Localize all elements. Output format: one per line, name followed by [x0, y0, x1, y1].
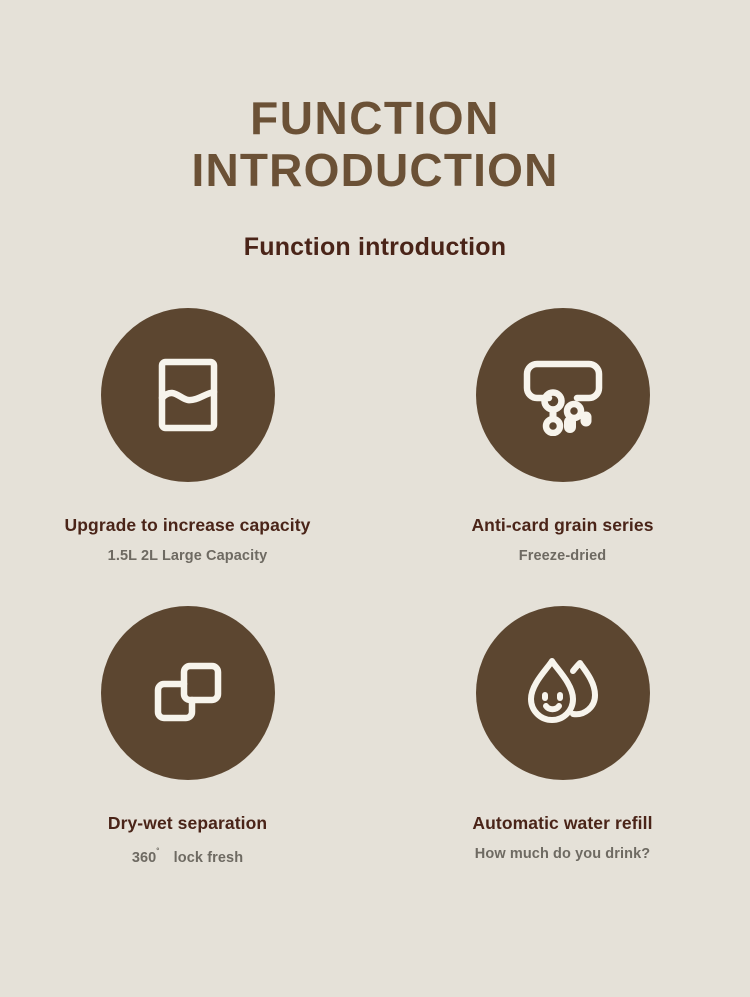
icon-badge	[101, 606, 275, 780]
icon-badge	[101, 308, 275, 482]
feature-title: Automatic water refill	[472, 812, 652, 834]
feature-card-anti-card-grain: Anti-card grain series Freeze-dried	[375, 308, 750, 606]
feature-subtitle: Freeze-dried	[519, 547, 606, 565]
feature-title: Anti-card grain series	[471, 514, 653, 536]
feature-subtitle: 360˚lock fresh	[132, 845, 243, 867]
icon-badge	[476, 308, 650, 482]
overlapping-squares-icon	[148, 653, 228, 733]
feature-title: Upgrade to increase capacity	[65, 514, 311, 536]
feature-subtitle-prefix: 360	[132, 850, 157, 866]
grain-dispenser-icon	[520, 354, 606, 436]
page-title-line-1: FUNCTION	[0, 92, 750, 144]
feature-card-capacity: Upgrade to increase capacity 1.5L 2L Lar…	[0, 308, 375, 606]
feature-card-automatic-water-refill: Automatic water refill How much do you d…	[375, 606, 750, 904]
feature-grid: Upgrade to increase capacity 1.5L 2L Lar…	[0, 308, 750, 904]
page-subtitle: Function introduction	[0, 232, 750, 262]
page-header: FUNCTION INTRODUCTION Function introduct…	[0, 0, 750, 262]
feature-card-dry-wet-separation: Dry-wet separation 360˚lock fresh	[0, 606, 375, 904]
feature-title: Dry-wet separation	[108, 812, 267, 834]
smiling-water-drops-icon	[521, 653, 605, 733]
page-title-line-2: INTRODUCTION	[0, 144, 750, 196]
feature-subtitle: How much do you drink?	[475, 845, 650, 863]
feature-subtitle: 1.5L 2L Large Capacity	[108, 547, 268, 565]
feature-subtitle-suffix: lock fresh	[174, 850, 244, 866]
function-introduction-page: FUNCTION INTRODUCTION Function introduct…	[0, 0, 750, 997]
degree-symbol: ˚	[156, 848, 159, 859]
water-container-level-icon	[146, 353, 230, 437]
icon-badge	[476, 606, 650, 780]
